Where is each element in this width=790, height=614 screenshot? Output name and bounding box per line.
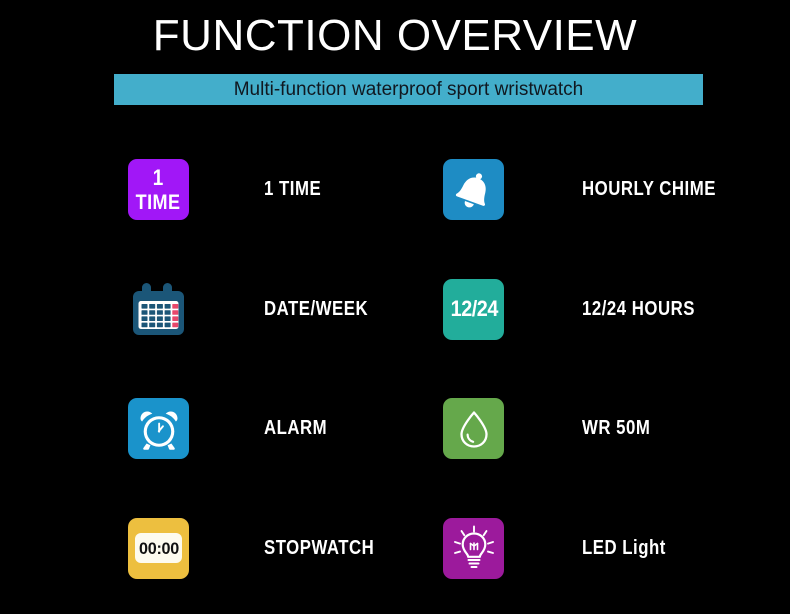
feature-item-date-week: DATE/WEEK — [0, 250, 395, 370]
page-title: FUNCTION OVERVIEW — [0, 8, 790, 64]
water-drop-icon — [443, 398, 504, 459]
feature-item-12-24-hours: 12/24 12/24 HOURS — [395, 250, 790, 370]
bell-icon — [443, 159, 504, 220]
subtitle-text: Multi-function waterproof sport wristwat… — [234, 79, 584, 101]
one-time-icon-top-text: 1 — [136, 167, 181, 189]
feature-label-wr-50m: WR 50M — [582, 417, 650, 440]
stopwatch-display: 00:00 — [135, 533, 182, 563]
feature-item-hourly-chime: HOURLY CHIME — [395, 130, 790, 250]
light-bulb-icon — [443, 518, 504, 579]
twelve-twentyfour-hours-icon-text: 12/24 — [450, 298, 497, 320]
subtitle-banner: Multi-function waterproof sport wristwat… — [114, 74, 703, 105]
function-overview-page: FUNCTION OVERVIEW Multi-function waterpr… — [0, 0, 790, 614]
stopwatch-icon: 00:00 — [128, 518, 189, 579]
twelve-twentyfour-hours-icon: 12/24 — [443, 279, 504, 340]
one-time-icon-bottom-text: TIME — [136, 192, 181, 213]
feature-label-alarm: ALARM — [264, 417, 327, 440]
feature-label-date-week: DATE/WEEK — [264, 298, 368, 321]
feature-item-1-time: 1 TIME 1 TIME — [0, 130, 395, 250]
feature-label-stopwatch: STOPWATCH — [264, 537, 374, 560]
feature-label-1-time: 1 TIME — [264, 178, 321, 201]
calendar-icon — [128, 279, 189, 340]
feature-item-wr-50m: WR 50M — [395, 369, 790, 489]
feature-item-stopwatch: 00:00 STOPWATCH — [0, 489, 395, 609]
feature-label-led-light: LED Light — [582, 537, 666, 560]
feature-item-led-light: LED Light — [395, 489, 790, 609]
feature-label-12-24-hours: 12/24 HOURS — [582, 298, 695, 321]
feature-item-alarm: ALARM — [0, 369, 395, 489]
feature-grid: 1 TIME 1 TIME HOURLY CHIME — [0, 130, 790, 608]
stopwatch-digits: 00:00 — [139, 540, 179, 557]
feature-label-hourly-chime: HOURLY CHIME — [582, 178, 716, 201]
one-time-icon: 1 TIME — [128, 159, 189, 220]
alarm-clock-icon — [128, 398, 189, 459]
